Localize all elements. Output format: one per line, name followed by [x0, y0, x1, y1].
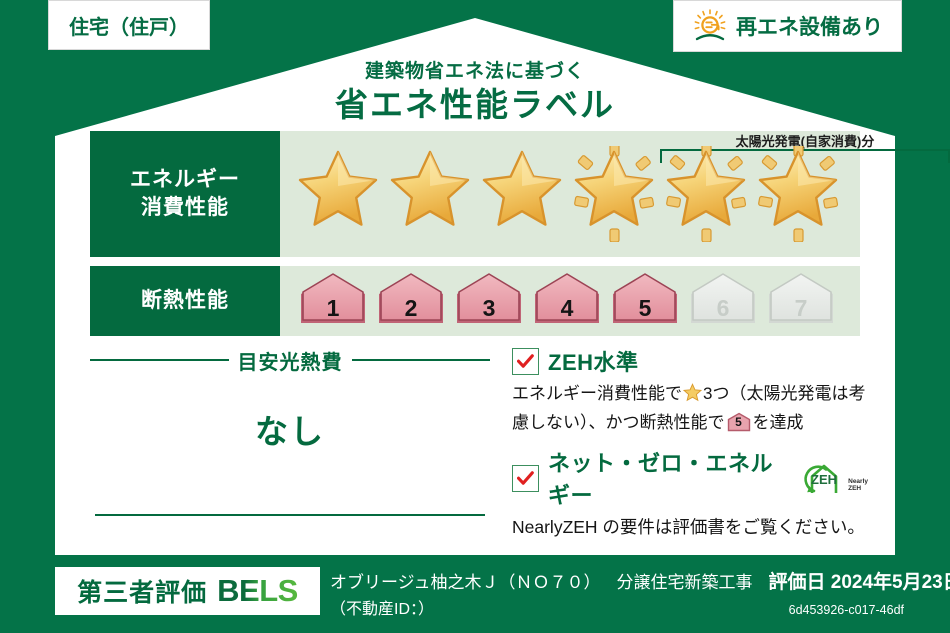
page-title: 省エネ性能ラベル — [0, 78, 950, 126]
star-icon-solar — [660, 146, 752, 242]
inline-house-level-icon: 5 — [727, 412, 751, 432]
utility-cost-title: 目安光熱費 — [238, 346, 343, 375]
bels-energy-label: 住宅（住戸） 再エ — [0, 0, 950, 633]
footer-line-primary: オブリージュ柚之木Ｊ（ＮＯ７０） 分譲住宅新築工事 評価日 2024年5月23日 — [330, 567, 950, 594]
zeh-netzero-note: NearlyZEH の要件は評価書をご覧ください。 — [512, 514, 868, 539]
zeh-standard-description: エネルギー消費性能で3つ（太陽光発電は考慮しない）、かつ断熱性能で5を達成 — [512, 381, 868, 436]
badge-renewable-equipment: 再エネ設備あり — [673, 0, 902, 52]
star-icon — [292, 146, 384, 242]
energy-performance-panel: 太陽光発電(自家消費)分 — [280, 131, 860, 257]
bels-certification-badge: 第三者評価 BELS — [55, 567, 320, 615]
footer-line-secondary: （不動産ID：） 6d453926-c017-46df — [330, 595, 904, 619]
insulation-performance-panel: 1 2 3 — [280, 266, 860, 336]
badge-building-category: 住宅（住戸） — [48, 0, 210, 50]
checkbox-checked-icon — [512, 465, 539, 492]
zeh-section: ZEH水準 エネルギー消費性能で3つ（太陽光発電は考慮しない）、かつ断熱性能で5… — [512, 345, 868, 539]
energy-performance-row: エネルギー 消費性能 太陽光発電(自家消費)分 — [90, 131, 860, 257]
zeh-standard-title: ZEH水準 — [548, 345, 639, 377]
zeh-house-logo-icon: ZEH — [800, 460, 846, 496]
checkbox-checked-icon — [512, 348, 539, 375]
insulation-level-number: 5 — [639, 295, 652, 329]
label-uuid: 6d453926-c017-46df — [789, 603, 904, 617]
insulation-level-number: 3 — [483, 295, 496, 329]
footer-metadata: オブリージュ柚之木Ｊ（ＮＯ７０） 分譲住宅新築工事 評価日 2024年5月23日… — [330, 567, 950, 619]
insulation-level-6: 6 — [686, 273, 760, 329]
zeh-logo: ZEH Nearly ZEH — [800, 460, 868, 496]
insulation-level-4: 4 — [530, 273, 604, 329]
insulation-level-scale: 1 2 3 — [280, 266, 860, 336]
zeh-logo-subtext: Nearly ZEH — [848, 479, 868, 497]
badge-renewable-label: 再エネ設備あり — [736, 11, 883, 41]
insulation-level-1: 1 — [296, 273, 370, 329]
label-footer: 第三者評価 BELS オブリージュ柚之木Ｊ（ＮＯ７０） 分譲住宅新築工事 評価日… — [0, 555, 950, 633]
insulation-performance-row: 断熱性能 1 — [90, 266, 860, 336]
utility-cost-bottom-divider — [95, 514, 485, 516]
work-type: 分譲住宅新築工事 — [616, 568, 752, 593]
zeh-standard-row: ZEH水準 — [512, 345, 868, 377]
insulation-level-number: 2 — [405, 295, 418, 329]
utility-cost-value: なし — [90, 405, 490, 453]
zeh-netzero-title: ネット・ゼロ・エネルギー — [548, 446, 785, 510]
insulation-level-number: 7 — [795, 295, 808, 329]
star-icon-solar — [752, 146, 844, 242]
real-estate-id: （不動産ID：） — [330, 595, 434, 619]
star-icon — [476, 146, 568, 242]
insulation-level-number: 1 — [327, 295, 340, 329]
insulation-level-2: 2 — [374, 273, 448, 329]
bels-jp-label: 第三者評価 — [77, 573, 207, 609]
badge-building-category-label: 住宅（住戸） — [69, 11, 189, 40]
star-icon-solar — [568, 146, 660, 242]
solar-sun-icon — [692, 9, 728, 43]
star-icon — [384, 146, 476, 242]
bels-logo-text: BELS — [217, 573, 298, 609]
energy-performance-label: エネルギー 消費性能 — [90, 131, 280, 257]
inline-star-icon — [683, 383, 702, 410]
insulation-level-number: 4 — [561, 295, 574, 329]
energy-star-rating — [280, 131, 860, 257]
insulation-performance-label: 断熱性能 — [90, 266, 280, 336]
divider-left — [90, 359, 229, 361]
divider-right — [352, 359, 491, 361]
evaluation-date: 評価日 2024年5月23日 — [768, 567, 950, 594]
property-name: オブリージュ柚之木Ｊ（ＮＯ７０） — [330, 568, 600, 593]
insulation-level-5: 5 — [608, 273, 682, 329]
zeh-netzero-row: ネット・ゼロ・エネルギー ZEH Nearly ZEH — [512, 446, 868, 510]
insulation-level-3: 3 — [452, 273, 526, 329]
utility-cost-header: 目安光熱費 — [90, 348, 490, 372]
zeh-logo-text: ZEH — [811, 472, 837, 487]
insulation-level-number: 6 — [717, 295, 730, 329]
insulation-level-7: 7 — [764, 273, 838, 329]
